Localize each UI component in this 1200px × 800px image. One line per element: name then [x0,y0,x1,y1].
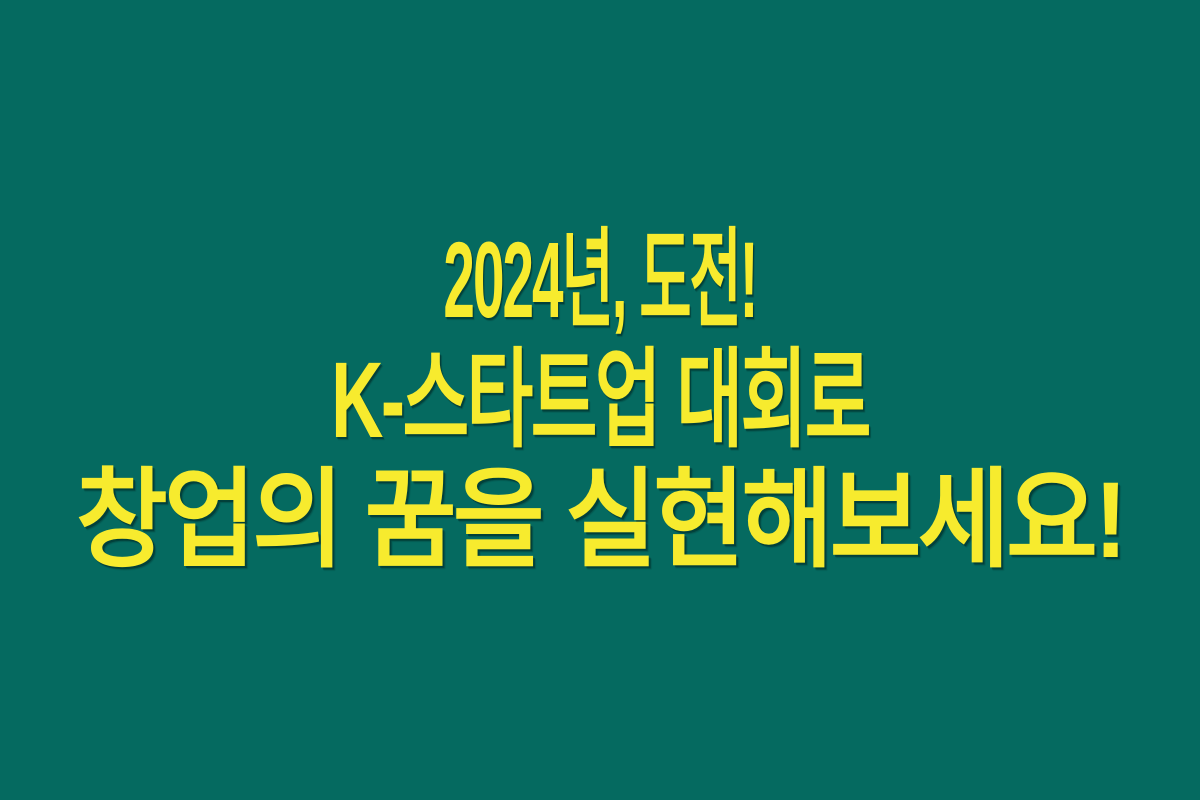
headline-block: 2024년, 도전! K-스타트업 대회로 창업의 꿈을 실현해보세요! [0,226,1200,574]
headline-line-2: K-스타트업 대회로 [198,346,1003,454]
promo-banner: 2024년, 도전! K-스타트업 대회로 창업의 꿈을 실현해보세요! [0,0,1200,800]
headline-line-1: 2024년, 도전! [285,226,915,334]
headline-line-3: 창업의 꿈을 실현해보세요! [47,466,1154,574]
